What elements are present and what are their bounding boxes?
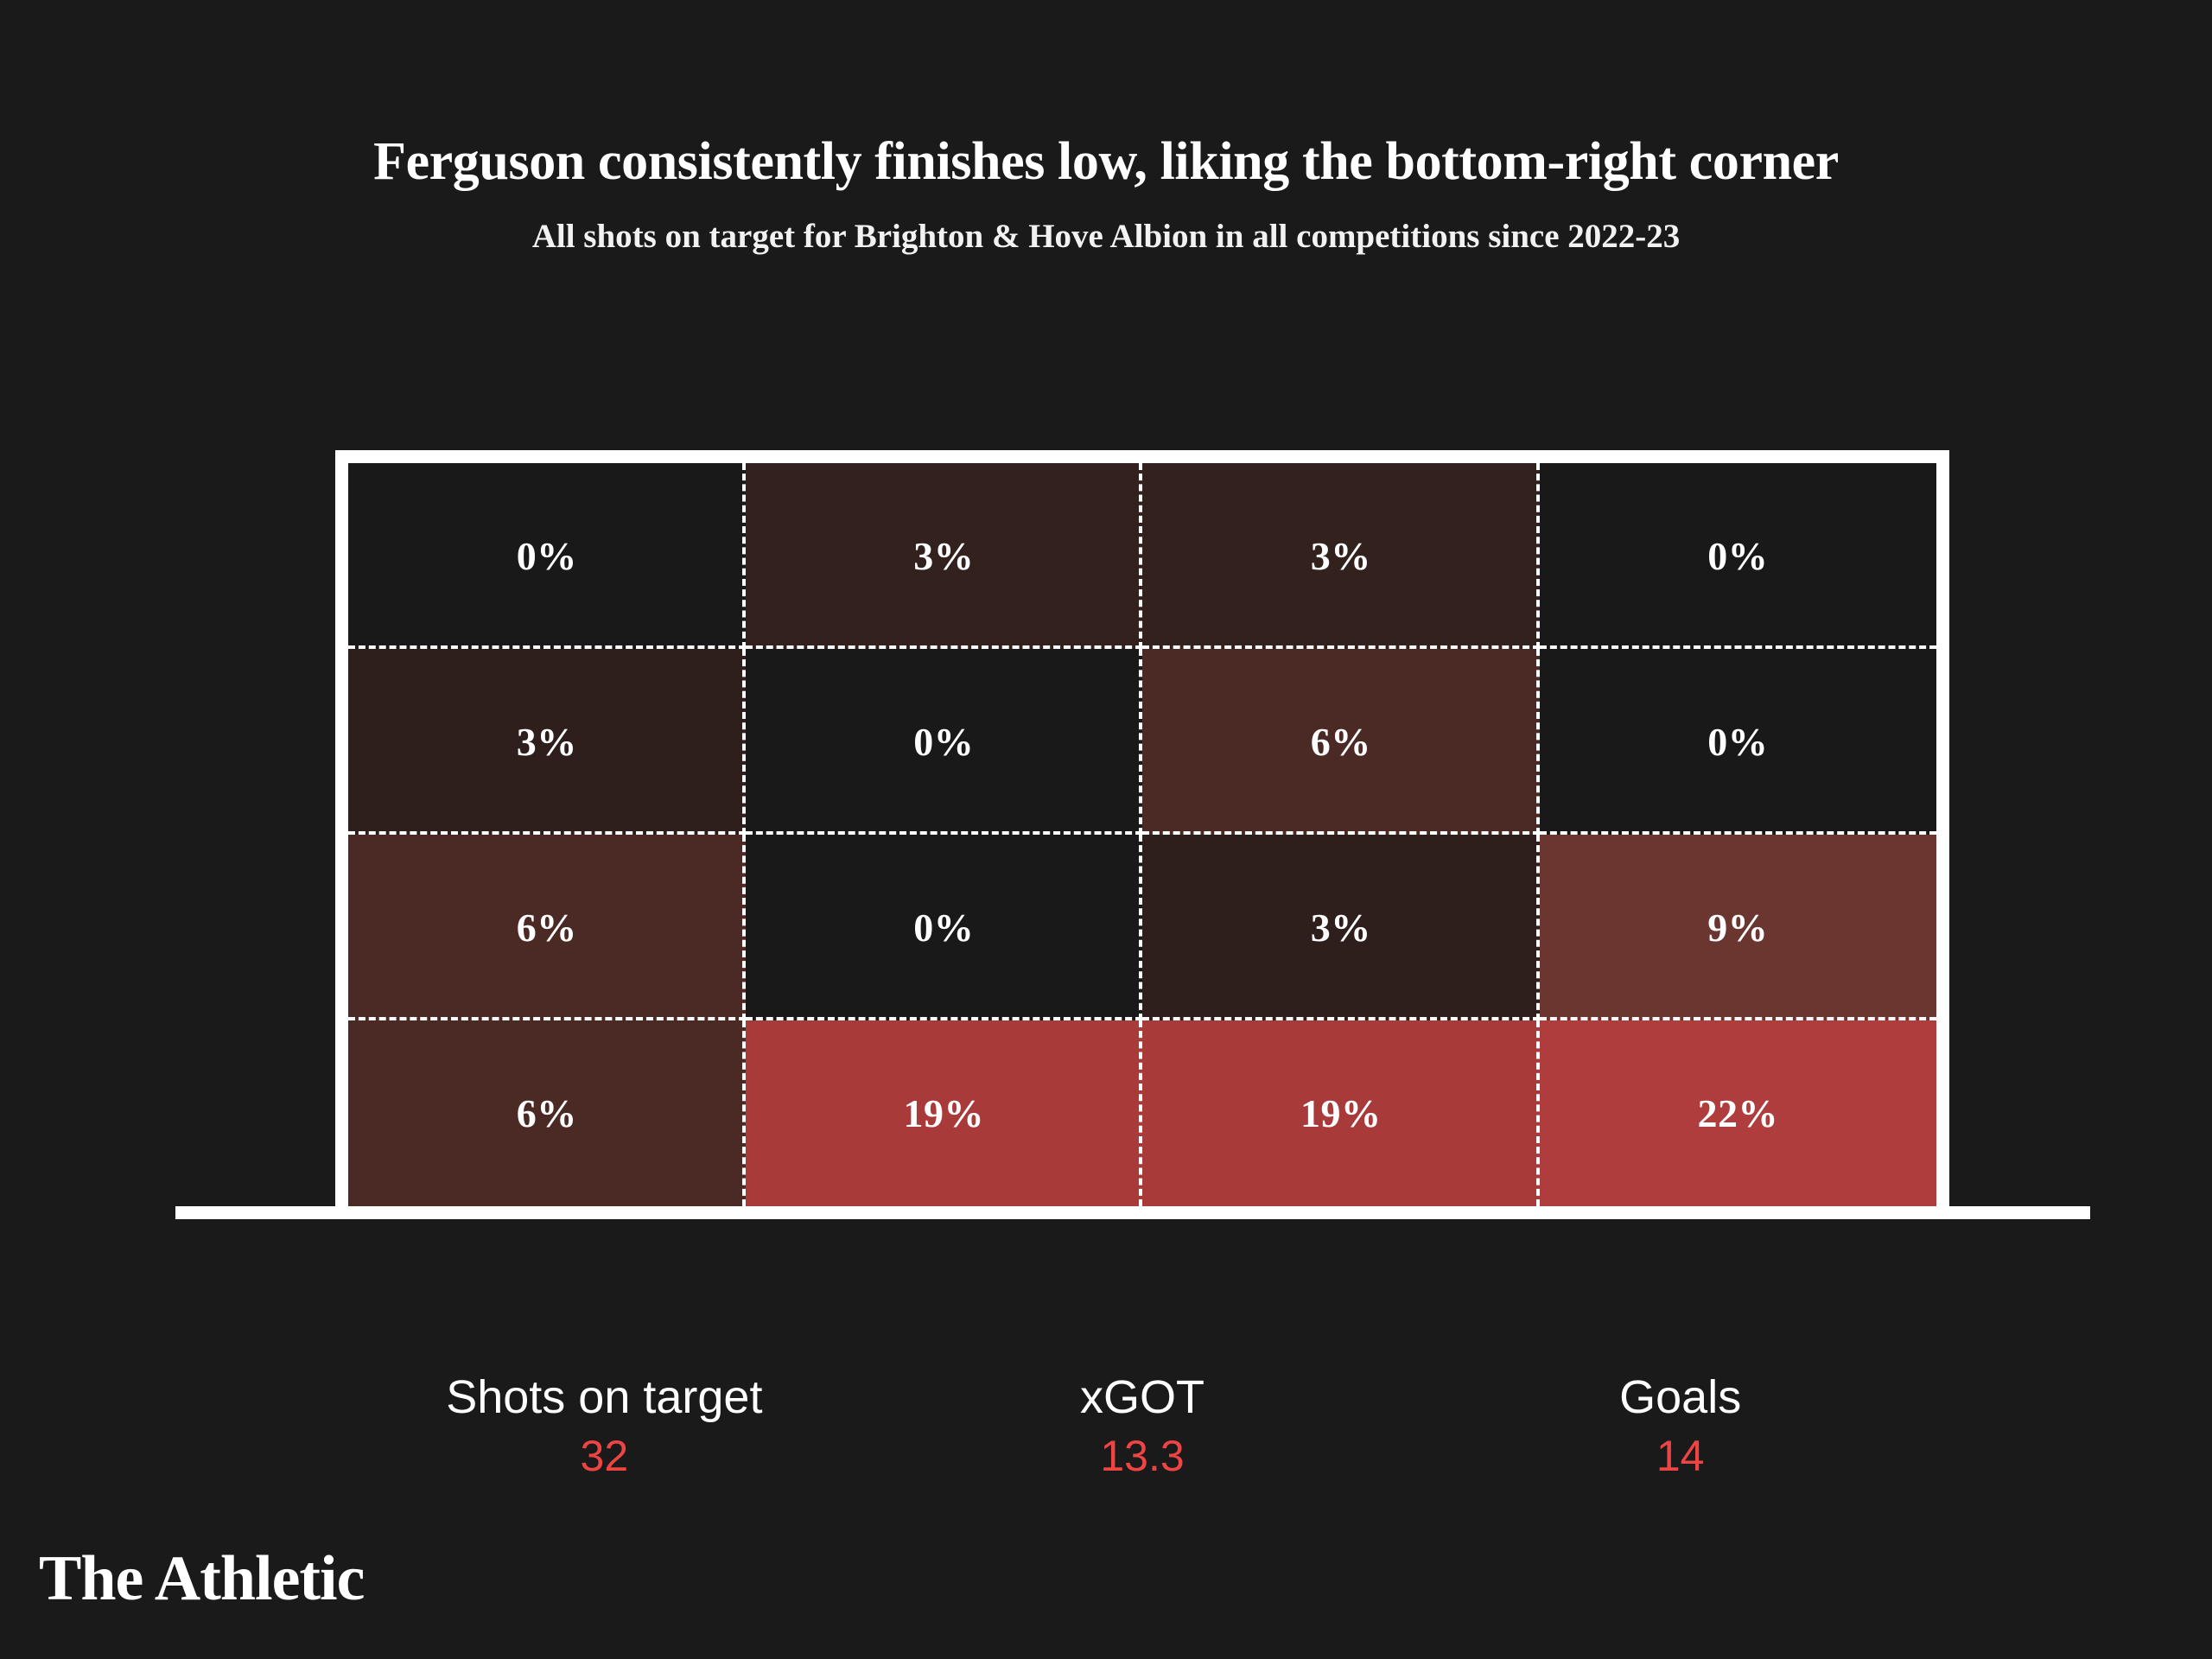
heatmap-cell[interactable]: 6% <box>1142 649 1540 835</box>
stat-value: 32 <box>335 1421 874 1478</box>
heatmap-cell[interactable]: 3% <box>746 463 1143 649</box>
summary-stats: Shots on target 32 xGOT 13.3 Goals 14 <box>335 1374 1949 1478</box>
stat-goals: Goals 14 <box>1411 1374 1949 1478</box>
heatmap-cell-value: 19% <box>904 1090 985 1136</box>
stat-label: xGOT <box>874 1374 1412 1421</box>
heatmap-cell-value: 0% <box>1707 719 1768 765</box>
heatmap-cell-value: 0% <box>517 533 577 579</box>
heatmap-cell-value: 9% <box>1707 905 1768 950</box>
heatmap-cell-value: 3% <box>913 533 974 579</box>
heatmap-cell-value: 6% <box>517 1090 577 1136</box>
brand-logo: The Athletic <box>39 1547 364 1611</box>
stat-xgot: xGOT 13.3 <box>874 1374 1412 1478</box>
stat-value: 13.3 <box>874 1421 1412 1478</box>
heatmap-cell[interactable]: 0% <box>348 463 746 649</box>
heatmap-cell-value: 0% <box>1707 533 1768 579</box>
heatmap-cell-value: 19% <box>1300 1090 1382 1136</box>
stat-shots-on-target: Shots on target 32 <box>335 1374 874 1478</box>
heatmap-cell[interactable]: 0% <box>746 835 1143 1020</box>
stat-label: Shots on target <box>335 1374 874 1421</box>
heatmap-cell[interactable]: 3% <box>348 649 746 835</box>
heatmap-cell[interactable]: 0% <box>746 649 1143 835</box>
heatmap-cell-value: 0% <box>913 905 974 950</box>
stat-value: 14 <box>1411 1421 1949 1478</box>
heatmap-cell[interactable]: 19% <box>1142 1020 1540 1206</box>
heatmap-cell[interactable]: 3% <box>1142 463 1540 649</box>
heatmap-cell[interactable]: 6% <box>348 835 746 1020</box>
heatmap-cell[interactable]: 9% <box>1540 835 1937 1020</box>
heatmap-cell[interactable]: 3% <box>1142 835 1540 1020</box>
heatmap-cell[interactable]: 6% <box>348 1020 746 1206</box>
heatmap-cell-value: 22% <box>1698 1090 1779 1136</box>
heatmap-cell-value: 3% <box>517 719 577 765</box>
heatmap-cell[interactable]: 0% <box>1540 649 1937 835</box>
heatmap-cell-value: 3% <box>1311 905 1371 950</box>
stat-label: Goals <box>1411 1374 1949 1421</box>
heatmap-cell-value: 6% <box>517 905 577 950</box>
shot-placement-grid: 0% 3% 3% 0% 3% 0% 6% 0% 6% 0% <box>348 463 1936 1206</box>
heatmap-cell-value: 6% <box>1311 719 1371 765</box>
heatmap-cell-value: 3% <box>1311 533 1371 579</box>
heatmap-cell-value: 0% <box>913 719 974 765</box>
heatmap-cell[interactable]: 0% <box>1540 463 1937 649</box>
heatmap-cell[interactable]: 19% <box>746 1020 1143 1206</box>
heatmap-cell[interactable]: 22% <box>1540 1020 1937 1206</box>
ground-line <box>175 1206 2090 1219</box>
